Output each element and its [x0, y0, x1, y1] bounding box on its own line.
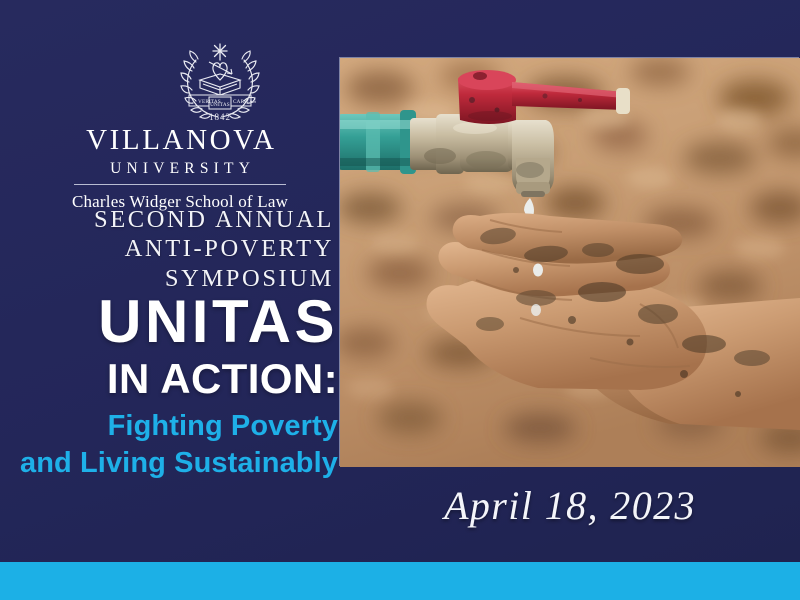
- seal-year: 1842: [209, 112, 231, 122]
- faucet-pipe: [340, 110, 416, 174]
- university-name: VILLANOVA: [40, 126, 320, 155]
- seal-heart-icon: [209, 62, 232, 80]
- kicker-line-1: SECOND ANNUAL: [14, 205, 334, 234]
- water-drop-in-palm-2: [531, 304, 541, 316]
- seal-cross-icon: [213, 44, 227, 60]
- bottom-accent-bar: [0, 562, 800, 600]
- kicker-line-2: ANTI-POVERTY: [14, 234, 334, 263]
- hero-photo: [340, 58, 800, 467]
- left-content-column: VERITAS UNITAS CARITAS 1842 VILLANOVA UN…: [0, 0, 340, 562]
- event-subtitle-line-1: Fighting Poverty: [0, 408, 338, 445]
- event-subtitle-line-2: and Living Sustainably: [0, 445, 338, 482]
- event-title-line-1: UNITAS: [8, 292, 338, 352]
- event-kicker: SECOND ANNUAL ANTI-POVERTY SYMPOSIUM: [14, 205, 334, 293]
- seal-motto-center: UNITAS: [210, 102, 230, 108]
- hero-photo-illustration: [340, 58, 800, 467]
- event-date: April 18, 2023: [340, 482, 800, 529]
- water-drop-in-palm: [533, 264, 543, 277]
- university-subname: UNIVERSITY: [40, 161, 320, 177]
- wordmark-divider: [74, 184, 286, 185]
- event-subtitle: Fighting Poverty and Living Sustainably: [0, 408, 338, 482]
- villanova-wordmark: VILLANOVA UNIVERSITY Charles Widger Scho…: [40, 126, 320, 210]
- event-title-line-2: IN ACTION:: [8, 358, 338, 400]
- poster-canvas: VERITAS UNITAS CARITAS 1842 VILLANOVA UN…: [0, 0, 800, 600]
- villanova-seal-icon: VERITAS UNITAS CARITAS 1842: [176, 40, 264, 128]
- seal-book-icon: [200, 74, 240, 95]
- seal-illustration: VERITAS UNITAS CARITAS 1842: [176, 40, 264, 128]
- seal-motto-right: CARITAS: [233, 99, 256, 105]
